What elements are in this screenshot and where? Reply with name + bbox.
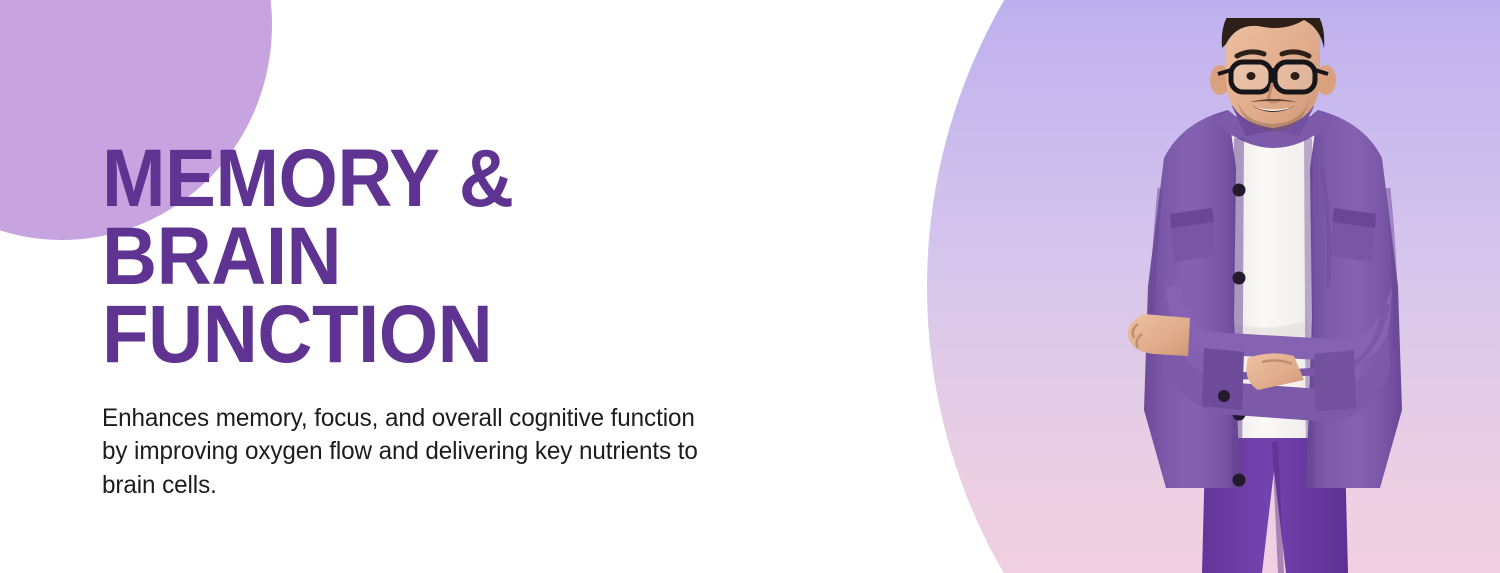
left-hand [1128, 314, 1190, 356]
banner-description: Enhances memory, focus, and overall cogn… [102, 402, 703, 503]
page-title: MEMORY & BRAIN FUNCTION [102, 140, 772, 374]
memory-brain-function-banner: MEMORY & BRAIN FUNCTION Enhances memory,… [0, 0, 1500, 573]
cuff-button [1218, 390, 1230, 402]
shirt-button [1233, 474, 1246, 487]
shirt-cuff [1314, 350, 1356, 412]
banner-text-block: MEMORY & BRAIN FUNCTION Enhances memory,… [102, 140, 822, 502]
person-illustration [1108, 18, 1438, 573]
shirt-button [1233, 184, 1246, 197]
shirt-button [1233, 272, 1246, 285]
